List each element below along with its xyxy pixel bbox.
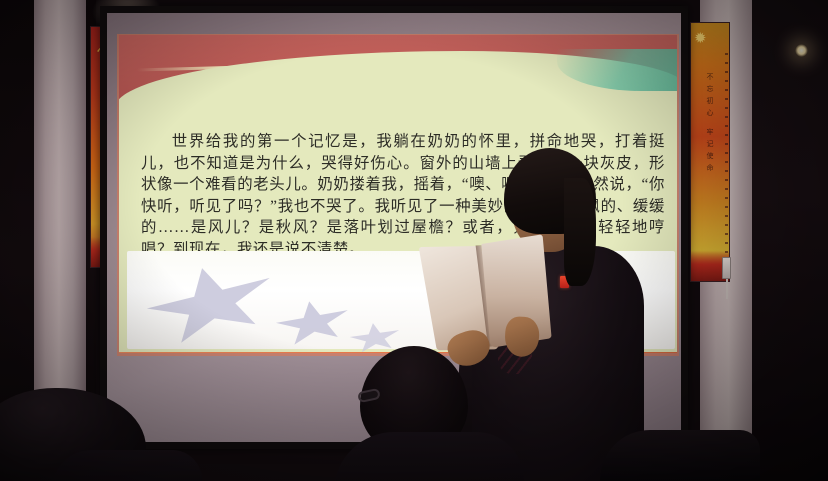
open-book bbox=[422, 234, 564, 359]
party-banner-right: ✹ 不忘初心 牢记使命 bbox=[690, 22, 730, 282]
ceiling-spotlight-icon bbox=[795, 44, 808, 57]
audience-member-center bbox=[334, 346, 524, 481]
star-icon bbox=[272, 295, 354, 352]
star-icon bbox=[138, 252, 284, 353]
presenter-hair-side bbox=[564, 178, 596, 286]
audience-member-left bbox=[0, 388, 184, 481]
audience-shoulders bbox=[334, 432, 524, 481]
audience-shoulders bbox=[52, 450, 202, 481]
banner-right-texture bbox=[725, 53, 728, 271]
banner-right-text: 不忘初心 牢记使命 bbox=[705, 73, 715, 176]
photo-scene: ☭ 中国共产党 ✹ 不忘初心 牢记使命 世界给我的第一个记忆是，我躺在奶奶的怀里… bbox=[0, 0, 828, 481]
audience-member-right bbox=[600, 430, 760, 481]
wall-light-switch[interactable] bbox=[722, 257, 731, 279]
switch-cord bbox=[726, 279, 728, 299]
star-emblem-icon: ✹ bbox=[694, 31, 707, 46]
